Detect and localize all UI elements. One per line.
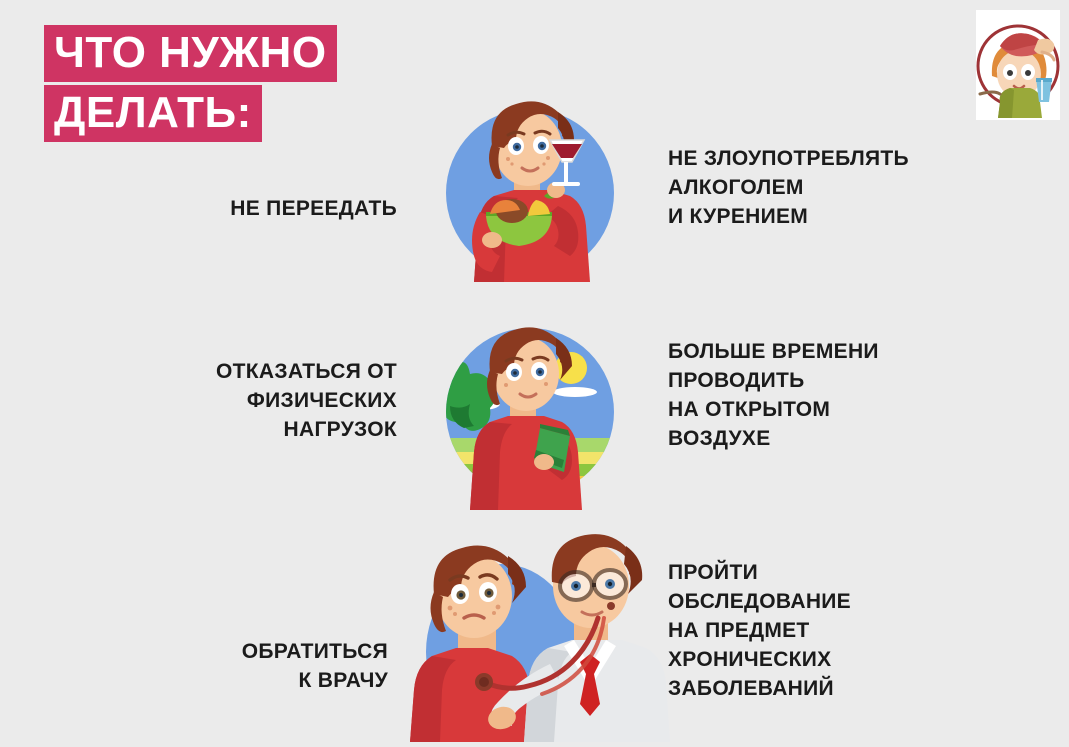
- sick-person-badge-logo: [976, 10, 1060, 120]
- caption-row1-left: НЕ ПЕРЕЕДАТЬ: [230, 194, 397, 223]
- caption-row1-right: НЕ ЗЛОУПОТРЕБЛЯТЬ АЛКОГОЛЕМ И КУРЕНИЕМ: [668, 144, 909, 231]
- caption-row2-right: БОЛЬШЕ ВРЕМЕНИ ПРОВОДИТЬ НА ОТКРЫТОМ ВОЗ…: [668, 337, 879, 453]
- boy-outdoors-with-book-icon: [440, 310, 620, 510]
- caption-row3-left: ОБРАТИТЬСЯ К ВРАЧУ: [242, 637, 388, 695]
- page-title: ЧТО НУЖНО ДЕЛАТЬ:: [44, 25, 337, 142]
- page-title-line-1: ЧТО НУЖНО: [44, 25, 337, 82]
- boy-with-food-bowl-and-wine-glass-icon: [440, 88, 620, 288]
- caption-row2-left: ОТКАЗАТЬСЯ ОТ ФИЗИЧЕСКИХ НАГРУЗОК: [216, 357, 397, 444]
- infographic-poster: ЧТО НУЖНО ДЕЛАТЬ: НЕ ПЕРЕЕДАТЬ НЕ ЗЛОУПО…: [0, 0, 1069, 742]
- caption-row3-right: ПРОЙТИ ОБСЛЕДОВАНИЕ НА ПРЕДМЕТ ХРОНИЧЕСК…: [668, 558, 851, 703]
- page-title-line-2: ДЕЛАТЬ:: [44, 85, 262, 142]
- doctor-examining-boy-with-stethoscope-icon: [398, 522, 670, 742]
